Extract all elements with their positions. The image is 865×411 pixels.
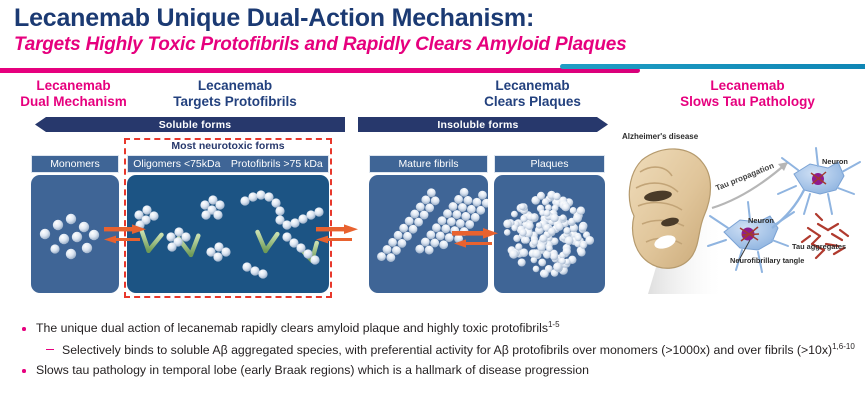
- panel-caption-oligomers-label: Oligomers <75kDa: [133, 158, 220, 170]
- equilibrium-arrow-1: [104, 222, 146, 248]
- tau-aggregate-cluster: [802, 214, 848, 258]
- citation-superscript: 1-5: [548, 320, 560, 329]
- most-neurotoxic-forms-label: Most neurotoxic forms: [124, 140, 332, 152]
- panel-caption-monomers: Monomers: [31, 155, 119, 173]
- equilibrium-arrow-3: [452, 226, 498, 252]
- bullet-item-primary-2: Slows tau pathology in temporal lobe (ea…: [14, 362, 859, 380]
- oligomers-protofibrils-art: [127, 175, 329, 293]
- pink-divider-rule: [0, 68, 640, 73]
- banner-insoluble-label: Insoluble forms: [437, 119, 518, 131]
- equilibrium-arrow-2: [316, 222, 358, 248]
- bullet-text: Selectively binds to soluble Aβ aggregat…: [62, 343, 832, 357]
- panel-caption-plaques-label: Plaques: [531, 158, 569, 170]
- panel-caption-oligomers-protofibrils: Oligomers <75kDa Protofibrils >75 kDa: [127, 155, 329, 173]
- page-title: Lecanemab Unique Dual-Action Mechanism:: [14, 4, 854, 32]
- bullet-text: Slows tau pathology in temporal lobe (ea…: [36, 363, 589, 377]
- column-heading-line2: Clears Plaques: [455, 94, 610, 110]
- citation-superscript: 1,6-10: [832, 342, 855, 351]
- panel-caption-mature-fibrils-label: Mature fibrils: [398, 158, 458, 170]
- bullet-item-sub-1: Selectively binds to soluble Aβ aggregat…: [14, 341, 859, 359]
- title-block: Lecanemab Unique Dual-Action Mechanism: …: [14, 4, 854, 56]
- bullet-list: The unique dual action of lecanemab rapi…: [14, 320, 859, 383]
- column-heading-targets-protofibrils: Lecanemab Targets Protofibrils: [140, 78, 330, 110]
- bullet-text: The unique dual action of lecanemab rapi…: [36, 321, 548, 335]
- bullet-item-primary-1: The unique dual action of lecanemab rapi…: [14, 320, 859, 338]
- page-subtitle: Targets Highly Toxic Protofibrils and Ra…: [14, 34, 854, 56]
- column-heading-line1: Lecanemab: [640, 78, 855, 94]
- column-heading-line2: Dual Mechanism: [6, 94, 141, 110]
- panel-caption-plaques: Plaques: [494, 155, 605, 173]
- column-heading-dual-mechanism: Lecanemab Dual Mechanism: [6, 78, 141, 110]
- neuron-label-upper: Neuron: [822, 157, 848, 166]
- column-heading-line1: Lecanemab: [6, 78, 141, 94]
- tau-pathology-illustration: Alzheimer's disease Tau propagation Neur…: [612, 124, 864, 304]
- alzheimers-disease-label: Alzheimer's disease: [622, 132, 698, 141]
- neuron-label-lower: Neuron: [748, 216, 774, 225]
- panel-body-plaques: [494, 175, 605, 293]
- tau-illustration-svg: [612, 124, 864, 304]
- column-heading-line2: Slows Tau Pathology: [640, 94, 855, 110]
- tau-aggregates-label: Tau aggregates: [792, 242, 846, 251]
- panel-caption-monomers-label: Monomers: [50, 158, 100, 170]
- banner-insoluble-forms: Insoluble forms: [358, 117, 608, 132]
- panel-caption-protofibrils-label: Protofibrils >75 kDa: [231, 158, 323, 170]
- panel-body-oligomers-protofibrils: Oligomer/ protofibril selective antibodi…: [127, 175, 329, 293]
- column-heading-line1: Lecanemab: [140, 78, 330, 94]
- banner-soluble-forms: Soluble forms: [35, 117, 345, 132]
- panel-caption-mature-fibrils: Mature fibrils: [369, 155, 488, 173]
- plaques-art: [494, 175, 605, 293]
- neurofibrillary-tangle-label: Neurofibrillary tangle: [730, 256, 804, 265]
- column-heading-clears-plaques: Lecanemab Clears Plaques: [455, 78, 610, 110]
- banner-soluble-label: Soluble forms: [159, 119, 232, 131]
- teal-divider-rule: [560, 64, 865, 69]
- column-heading-line1: Lecanemab: [455, 78, 610, 94]
- column-heading-line2: Targets Protofibrils: [140, 94, 330, 110]
- column-heading-slows-tau-pathology: Lecanemab Slows Tau Pathology: [640, 78, 855, 110]
